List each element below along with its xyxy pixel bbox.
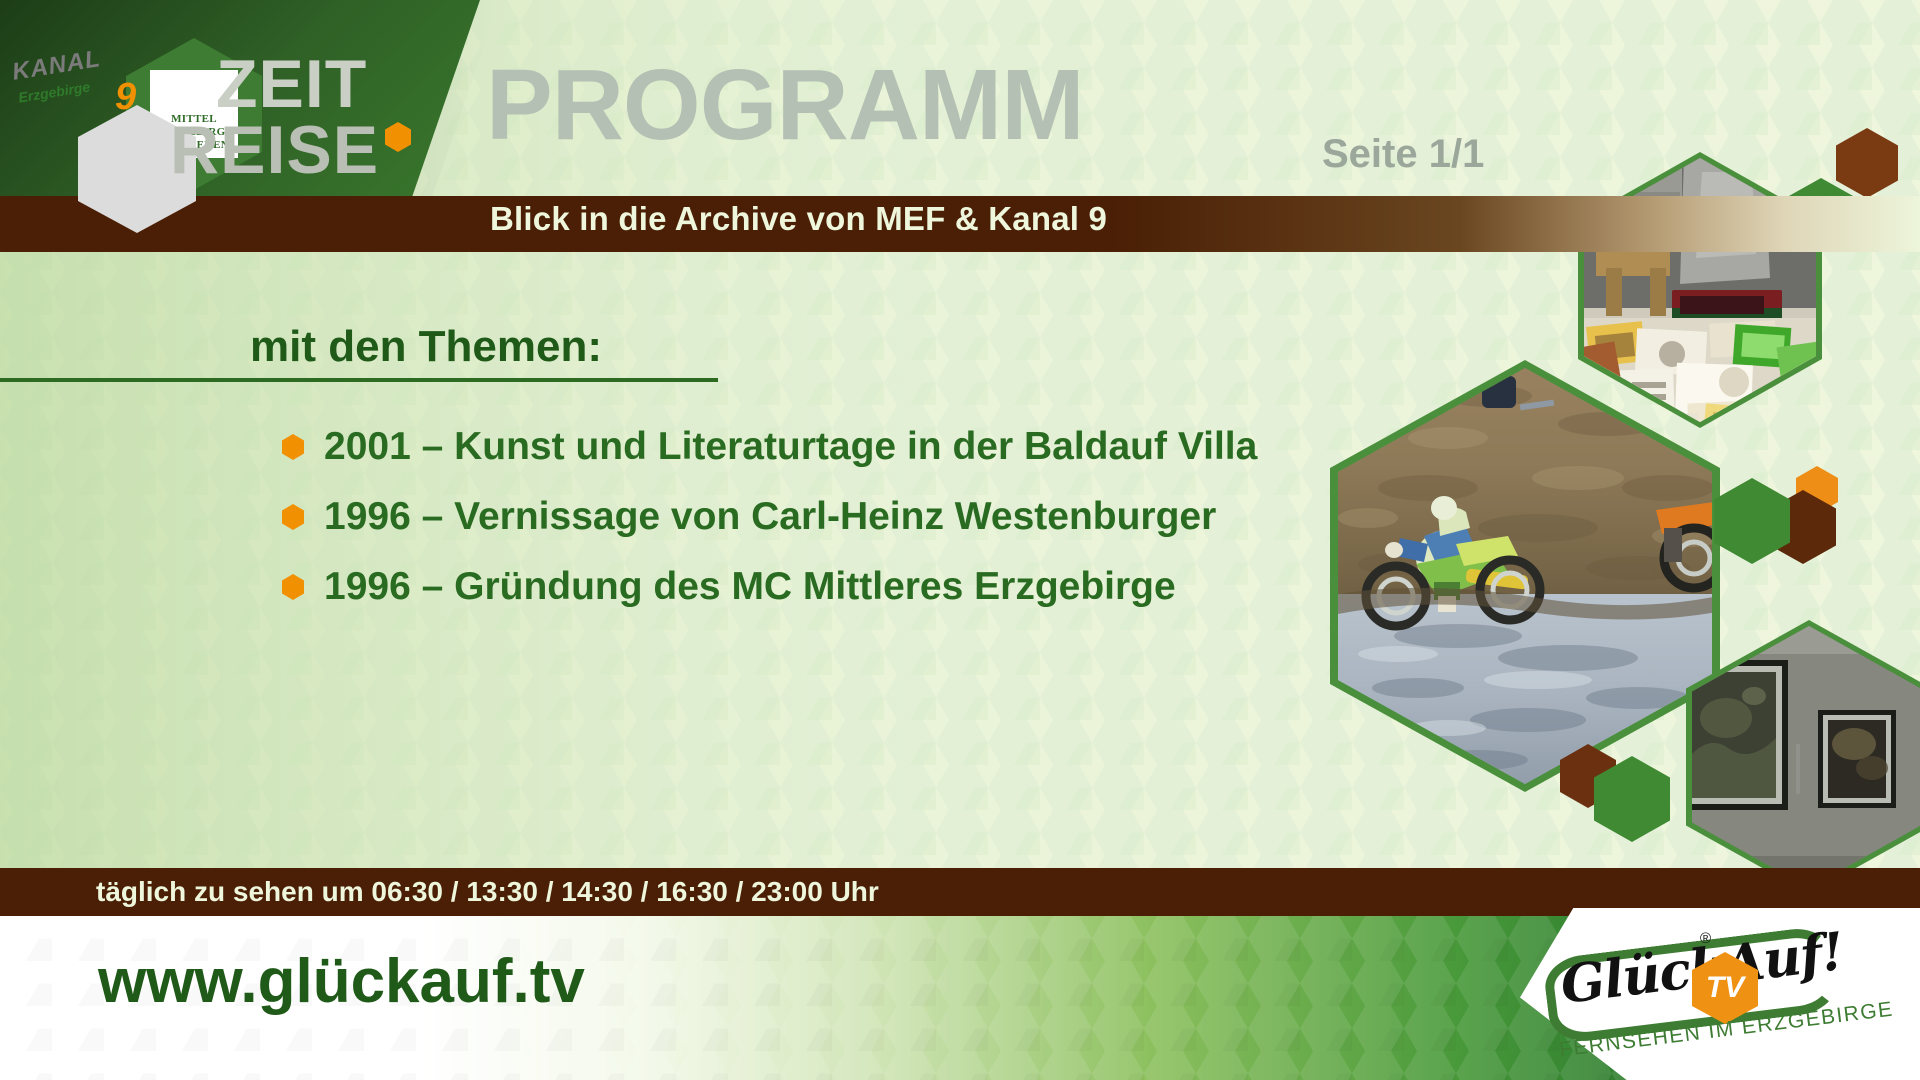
list-item: 1996 – Vernissage von Carl-Heinz Westenb…: [282, 482, 1257, 552]
show-title-line-1: ZEIT: [216, 52, 367, 116]
topics-heading: mit den Themen:: [250, 322, 602, 372]
topic-text: 1996 – Vernissage von Carl-Heinz Westenb…: [324, 495, 1216, 539]
page-indicator: Seite 1/1: [1322, 132, 1484, 177]
schedule-text: täglich zu sehen um 06:30 / 13:30 / 14:3…: [96, 876, 879, 908]
program-slide: MITTEL ERZGEBIRGS FERNSEHEN KANAL Erzgeb…: [0, 0, 1920, 1080]
topics-list: 2001 – Kunst und Literaturtage in der Ba…: [282, 412, 1257, 622]
glueckauf-tv-badge-label: TV: [1706, 971, 1744, 1005]
bullet-hexagon-icon: [282, 574, 304, 600]
registered-trademark-icon: ®: [1700, 930, 1711, 947]
subtitle-text: Blick in die Archive von MEF & Kanal 9: [490, 200, 1107, 238]
list-item: 2001 – Kunst und Literaturtage in der Ba…: [282, 412, 1257, 482]
kanal9-number: 9: [115, 76, 136, 119]
show-title-line-2: REISE: [170, 118, 379, 182]
bullet-hexagon-icon: [282, 504, 304, 530]
list-item: 1996 – Gründung des MC Mittleres Erzgebi…: [282, 552, 1257, 622]
topic-text: 1996 – Gründung des MC Mittleres Erzgebi…: [324, 565, 1176, 609]
page-title: PROGRAMM: [486, 52, 1084, 158]
topic-text: 2001 – Kunst und Literaturtage in der Ba…: [324, 425, 1257, 469]
topics-heading-rule: [0, 378, 718, 382]
website-url[interactable]: www.glückauf.tv: [98, 946, 585, 1017]
bullet-hexagon-icon: [282, 434, 304, 460]
